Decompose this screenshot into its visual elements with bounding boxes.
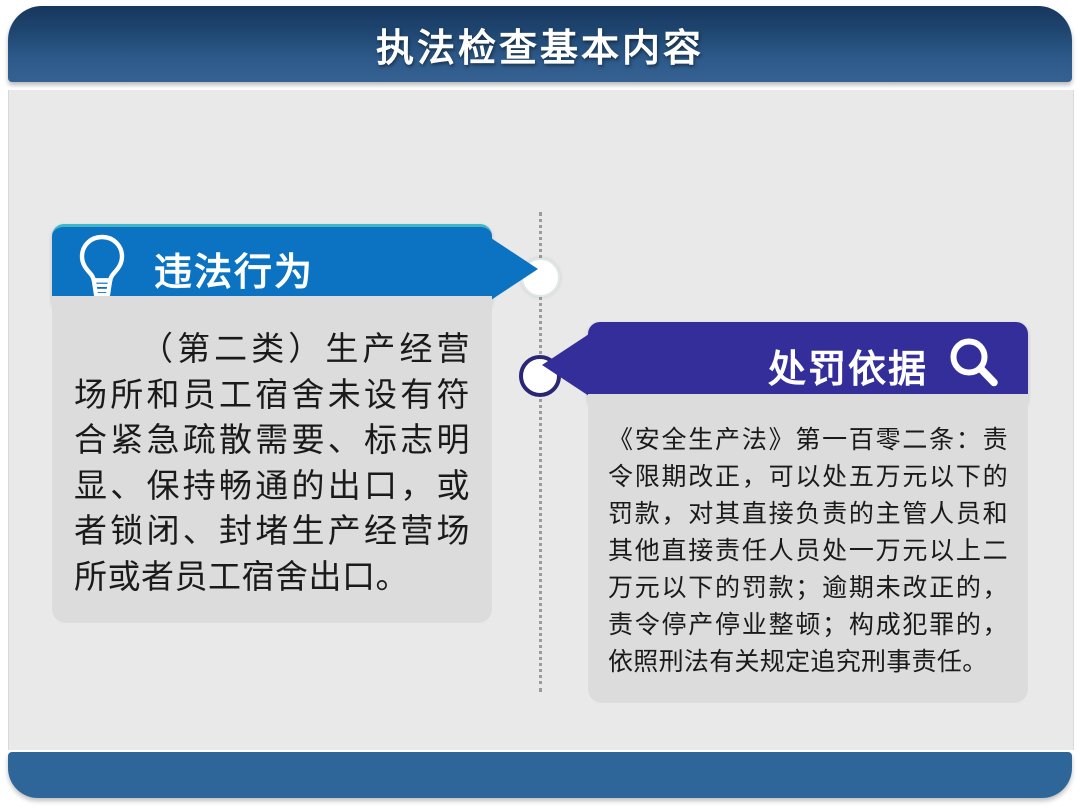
violation-card-body: （第二类）生产经营场所和员工宿舍未设有符合紧急疏散需要、标志明显、保持畅通的出口… <box>52 296 492 623</box>
penalty-card: 处罚依据 《安全生产法》第一百零二条：责令限期改正，可以处五万元以下的罚款，对其… <box>588 322 1028 703</box>
slide-root: 执法检查基本内容 违法行为 （第二类）生产经营场所和员工宿舍未设有符合紧急疏散需… <box>0 0 1080 810</box>
penalty-card-body: 《安全生产法》第一百零二条：责令限期改正，可以处五万元以下的罚款，对其直接负责的… <box>588 394 1028 703</box>
search-icon <box>946 334 1002 397</box>
violation-card: 违法行为 （第二类）生产经营场所和员工宿舍未设有符合紧急疏散需要、标志明显、保持… <box>52 224 492 623</box>
violation-card-title: 违法行为 <box>154 241 314 296</box>
page-header-banner: 执法检查基本内容 <box>8 6 1072 82</box>
penalty-card-title: 处罚依据 <box>768 338 928 393</box>
penalty-text: 《安全生产法》第一百零二条：责令限期改正，可以处五万元以下的罚款，对其直接负责的… <box>608 422 1008 681</box>
lightbulb-icon <box>76 233 128 304</box>
page-footer-bar <box>8 752 1072 798</box>
page-title: 执法检查基本内容 <box>376 17 704 72</box>
violation-text: （第二类）生产经营场所和员工宿舍未设有符合紧急疏散需要、标志明显、保持畅通的出口… <box>74 326 470 599</box>
